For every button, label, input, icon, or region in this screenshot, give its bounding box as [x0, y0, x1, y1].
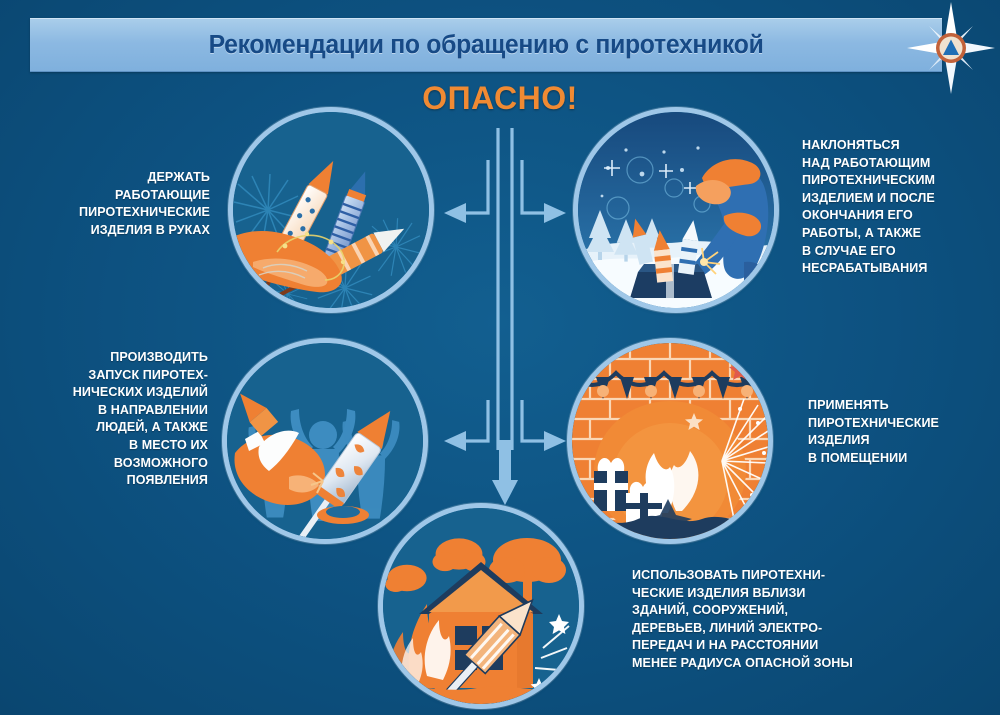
caption-line: ЧЕСКИЕ ИЗДЕЛИЯ ВБЛИЗИ — [632, 584, 955, 602]
caption-line: ЛЮДЕЙ, А ТАКЖЕ — [0, 418, 208, 436]
caption-line: ДЕРЖАТЬ — [0, 168, 210, 186]
caption-use-indoors: ПРИМЕНЯТЬ ПИРОТЕХНИЧЕСКИЕ ИЗДЕЛИЯ В ПОМЕ… — [808, 396, 989, 466]
caption-line: В НАПРАВЛЕНИИ — [0, 401, 208, 419]
page-title: Рекомендации по обращению с пиротехникой — [209, 31, 764, 60]
caption-use-near-buildings: ИСПОЛЬЗОВАТЬ ПИРОТЕХНИ- ЧЕСКИЕ ИЗДЕЛИЯ В… — [632, 566, 955, 672]
caption-line: ДЕРЕВЬЕВ, ЛИНИЙ ЭЛЕКТРО- — [632, 619, 955, 637]
caption-line: ЗДАНИЙ, СООРУЖЕНИЙ, — [632, 601, 955, 619]
caption-bend-over-device: НАКЛОНЯТЬСЯ НАД РАБОТАЮЩИМ ПИРОТЕХНИЧЕСК… — [802, 136, 983, 277]
illustration-circle-bend-over-device — [578, 112, 774, 308]
caption-line: В МЕСТО ИХ — [0, 436, 208, 454]
caption-line: РАБОТЫ, А ТАКЖЕ — [802, 224, 983, 242]
caption-line: НАКЛОНЯТЬСЯ — [802, 136, 983, 154]
illustration-circle-hold-in-hands — [233, 112, 429, 308]
caption-line: ПИРОТЕХНИЧЕСКИЕ — [808, 414, 989, 432]
caption-line: ИЗДЕЛИЯ — [808, 431, 989, 449]
header-banner: Рекомендации по обращению с пиротехникой — [30, 18, 942, 72]
caption-line: ИСПОЛЬЗОВАТЬ ПИРОТЕХНИ- — [632, 566, 955, 584]
caption-line: ПОЯВЛЕНИЯ — [0, 471, 208, 489]
caption-line: ОКОНЧАНИЯ ЕГО — [802, 206, 983, 224]
danger-heading: ОПАСНО! — [0, 80, 1000, 117]
caption-line: ИЗДЕЛИЯ В РУКАХ — [0, 221, 210, 239]
caption-line: ИЗДЕЛИЕМ И ПОСЛЕ — [802, 189, 983, 207]
caption-line: ПЕРЕДАЧ И НА РАССТОЯНИИ — [632, 636, 955, 654]
caption-line: НИЧЕСКИХ ИЗДЕЛИЙ — [0, 383, 208, 401]
caption-launch-toward-people: ПРОИЗВОДИТЬ ЗАПУСК ПИРОТЕХ- НИЧЕСКИХ ИЗД… — [0, 348, 208, 489]
caption-line: НЕСРАБАТЫВАНИЯ — [802, 259, 983, 277]
caption-hold-in-hands: ДЕРЖАТЬ РАБОТАЮЩИЕ ПИРОТЕХНИЧЕСКИЕ ИЗДЕЛ… — [0, 168, 210, 238]
caption-line: ВОЗМОЖНОГО — [0, 454, 208, 472]
caption-line: РАБОТАЮЩИЕ — [0, 186, 210, 204]
illustration-circle-launch-toward-people — [227, 343, 423, 539]
caption-line: В СЛУЧАЕ ЕГО — [802, 242, 983, 260]
caption-line: МЕНЕЕ РАДИУСА ОПАСНОЙ ЗОНЫ — [632, 654, 955, 672]
caption-line: ПРИМЕНЯТЬ — [808, 396, 989, 414]
caption-line: ПИРОТЕХНИЧЕСКИЕ — [0, 203, 210, 221]
caption-line: ПРОИЗВОДИТЬ — [0, 348, 208, 366]
illustration-circle-use-indoors — [572, 343, 768, 539]
caption-line: НАД РАБОТАЮЩИМ — [802, 154, 983, 172]
illustration-circle-use-near-buildings — [383, 508, 579, 704]
caption-line: ЗАПУСК ПИРОТЕХ- — [0, 366, 208, 384]
caption-line: В ПОМЕЩЕНИИ — [808, 449, 989, 467]
caption-line: ПИРОТЕХНИЧЕСКИМ — [802, 171, 983, 189]
